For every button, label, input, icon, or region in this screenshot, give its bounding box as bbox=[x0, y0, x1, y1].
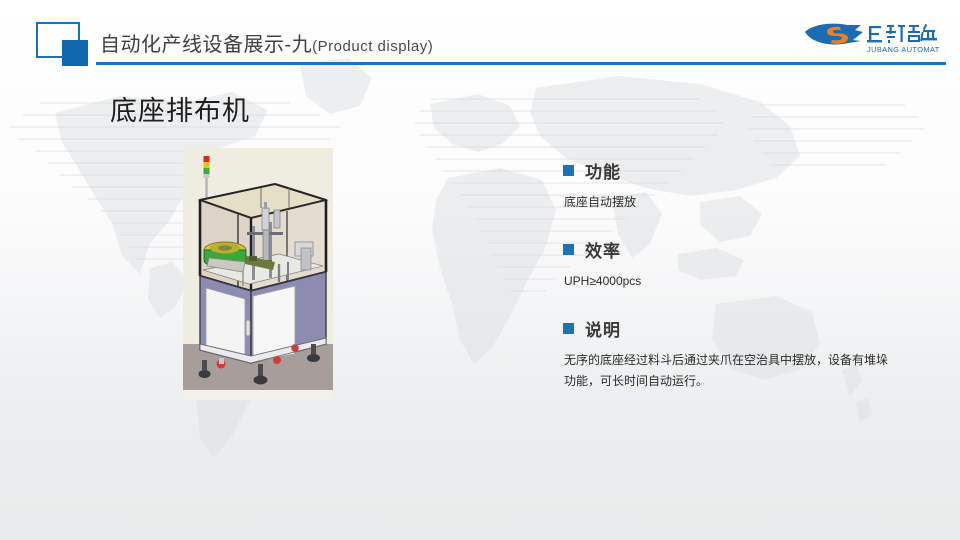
square-bullet-icon bbox=[563, 323, 574, 334]
section-description-header: 说明 bbox=[563, 316, 893, 341]
section-function-title: 功能 bbox=[585, 158, 621, 183]
page-title: 底座排布机 bbox=[110, 89, 250, 128]
section-function: 功能 底座自动摆放 bbox=[563, 158, 893, 213]
section-efficiency-title: 效率 bbox=[585, 237, 621, 262]
section-description: 说明 无序的底座经过料斗后通过夹爪在空治具中摆放，设备有堆垛功能，可长时间自动运… bbox=[563, 316, 893, 392]
section-description-title: 说明 bbox=[585, 316, 621, 341]
machine-3d-render-icon bbox=[183, 148, 333, 400]
section-efficiency-body: UPH≥4000pcs bbox=[563, 271, 893, 292]
slide-canvas: 自动化产线设备展示-九(Product display) bbox=[0, 0, 960, 540]
section-description-body: 无序的底座经过料斗后通过夹爪在空治具中摆放，设备有堆垛功能，可长时间自动运行。 bbox=[563, 350, 893, 392]
header-divider-line bbox=[96, 62, 946, 65]
header-square-decoration bbox=[36, 22, 102, 68]
section-function-body: 底座自动摆放 bbox=[563, 192, 893, 213]
section-efficiency: 效率 UPH≥4000pcs bbox=[563, 237, 893, 292]
header-title-en: (Product display) bbox=[312, 38, 433, 55]
deco-filled-square bbox=[62, 40, 88, 66]
svg-text:JUBANG AUTOMATION: JUBANG AUTOMATION bbox=[867, 45, 940, 54]
square-bullet-icon bbox=[563, 165, 574, 176]
jubang-logo-icon: JUBANG AUTOMATION bbox=[803, 20, 940, 56]
section-efficiency-header: 效率 bbox=[563, 237, 893, 262]
company-logo: JUBANG AUTOMATION bbox=[803, 20, 940, 56]
product-spec-panel: 功能 底座自动摆放 效率 UPH≥4000pcs 说明 无序的底座经过料斗后通过… bbox=[563, 158, 893, 398]
product-image bbox=[183, 148, 333, 400]
header-title-cn: 自动化产线设备展示-九 bbox=[100, 34, 312, 56]
square-bullet-icon bbox=[563, 244, 574, 255]
header-title: 自动化产线设备展示-九(Product display) bbox=[100, 28, 433, 57]
section-function-header: 功能 bbox=[563, 158, 893, 183]
